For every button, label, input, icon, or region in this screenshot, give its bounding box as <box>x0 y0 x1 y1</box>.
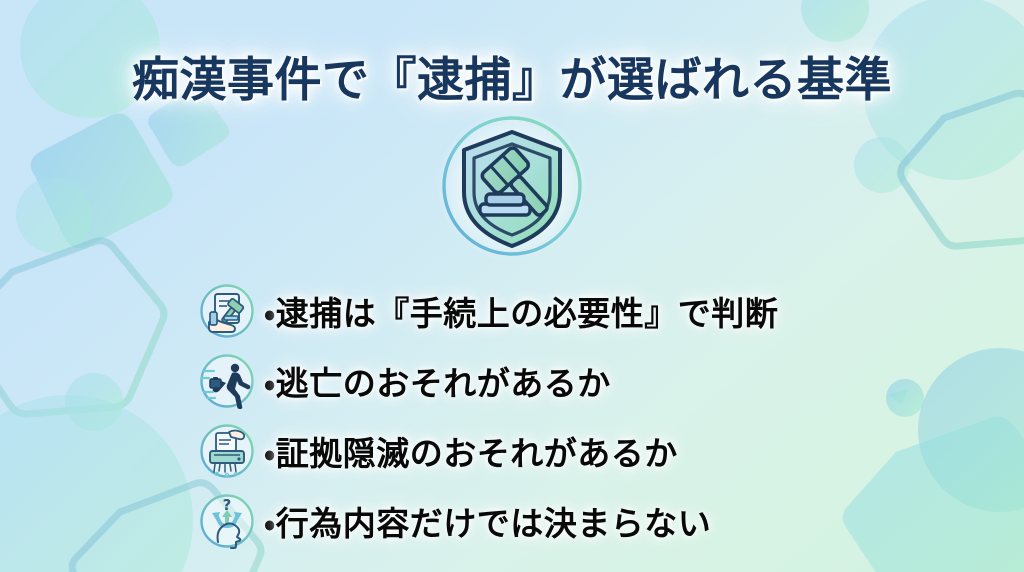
bullet-label: 行為内容だけでは決まらない <box>276 504 712 543</box>
decorative-circle <box>16 177 92 253</box>
decorative-triangle-small <box>888 389 908 405</box>
decorative-circle-small <box>886 379 924 417</box>
bullet-marker: ・ <box>264 434 276 473</box>
bullet-list: ・逮捕は『手続上の必要性』で判断 <box>198 276 778 556</box>
bullet-label: 逃亡のおそれがあるか <box>276 364 611 403</box>
decorative-circle <box>854 137 910 193</box>
decorative-circle-large <box>0 395 193 572</box>
hand-holding-document-gavel-icon <box>198 282 256 340</box>
list-item-text: ・逃亡のおそれがあるか <box>264 357 611 405</box>
decorative-hexagon-filled <box>843 416 1024 572</box>
paper-shredder-icon <box>198 422 256 480</box>
bullet-label: 証拠隠滅のおそれがあるか <box>276 434 678 473</box>
decorative-circle <box>65 373 123 431</box>
bullet-marker: ・ <box>264 364 276 403</box>
list-item: ・逮捕は『手続上の必要性』で判断 <box>198 276 778 346</box>
decorative-circle <box>918 348 1024 512</box>
shield-gavel-icon <box>434 108 590 264</box>
running-person-fleeing-icon <box>198 352 256 410</box>
head-question-arrows-icon: ? <box>198 492 256 550</box>
list-item-text: ・逮捕は『手続上の必要性』で判断 <box>264 287 778 335</box>
list-item: ? ・行為内容だけでは決まらない <box>198 486 778 556</box>
slide-canvas: 痴漢事件で『逮捕』が選ばれる基準 <box>0 0 1024 572</box>
list-item-text: ・証拠隠滅のおそれがあるか <box>264 427 678 475</box>
page-title: 痴漢事件で『逮捕』が選ばれる基準 <box>132 55 892 107</box>
bullet-label: 逮捕は『手続上の必要性』で判断 <box>276 294 779 333</box>
bullet-marker: ・ <box>264 294 276 333</box>
list-item: ・証拠隠滅のおそれがあるか <box>198 416 778 486</box>
bullet-marker: ・ <box>264 504 276 543</box>
decorative-hexagon-outline <box>0 241 164 414</box>
list-item-text: ・行為内容だけでは決まらない <box>264 497 711 545</box>
list-item: ・逃亡のおそれがあるか <box>198 346 778 416</box>
